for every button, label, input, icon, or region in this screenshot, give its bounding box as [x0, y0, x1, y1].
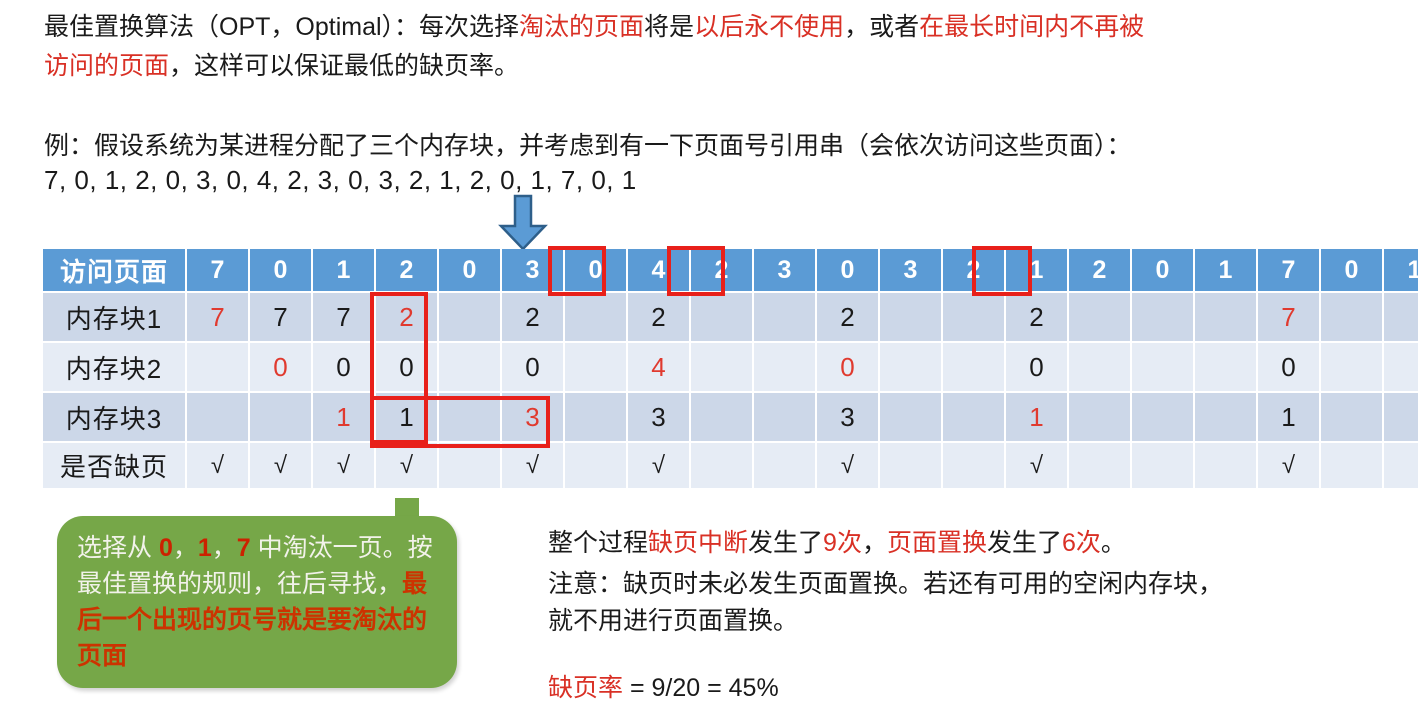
- table-row-block1: 内存块1 777222227: [43, 292, 1418, 342]
- access-page-cell-2: 1: [312, 249, 375, 292]
- fault-cell-3: √: [375, 442, 438, 489]
- summary-line-3: 就不用进行页面置换。: [548, 603, 798, 640]
- summary-c: ，: [862, 529, 887, 557]
- fault-cell-10: √: [816, 442, 879, 489]
- block3-cell-15: [1131, 392, 1194, 442]
- block1-cell-10: 2: [816, 292, 879, 342]
- block2-cell-2: 0: [312, 342, 375, 392]
- access-page-cell-7: 4: [627, 249, 690, 292]
- block1-cell-4: [438, 292, 501, 342]
- block2-cell-7: 4: [627, 342, 690, 392]
- block3-cell-17: 1: [1257, 392, 1320, 442]
- block2-cell-3: 0: [375, 342, 438, 392]
- block1-cell-7: 2: [627, 292, 690, 342]
- intro-text-b: 将是: [644, 13, 694, 41]
- summary-red-count-9: 9次: [823, 529, 862, 557]
- fault-cell-1: √: [249, 442, 312, 489]
- intro-red-3: 在最长时间内不再被: [919, 13, 1144, 41]
- block3-cell-3: 1: [375, 392, 438, 442]
- block1-cell-15: [1131, 292, 1194, 342]
- block1-cell-0: 7: [186, 292, 249, 342]
- block2-cell-1: 0: [249, 342, 312, 392]
- block2-cell-13: 0: [1005, 342, 1068, 392]
- callout-num-7: 7: [237, 534, 251, 562]
- fault-cell-2: √: [312, 442, 375, 489]
- block1-cell-14: [1068, 292, 1131, 342]
- block3-cell-0: [186, 392, 249, 442]
- block1-cell-18: [1320, 292, 1383, 342]
- row-label-access-page: 访问页面: [43, 249, 186, 292]
- block3-cell-8: [690, 392, 753, 442]
- block3-cell-2: 1: [312, 392, 375, 442]
- block2-cell-11: [879, 342, 942, 392]
- block1-cell-2: 7: [312, 292, 375, 342]
- access-page-cell-1: 0: [249, 249, 312, 292]
- block3-cell-9: [753, 392, 816, 442]
- fault-cell-19: [1383, 442, 1418, 489]
- fault-cell-16: [1194, 442, 1257, 489]
- callout-box: 选择从 0，1，7 中淘汰一页。按最佳置换的规则，往后寻找，最后一个出现的页号就…: [57, 516, 457, 688]
- fault-cell-9: [753, 442, 816, 489]
- summary-line-2: 注意：缺页时未必发生页面置换。若还有可用的空闲内存块，: [548, 566, 1223, 603]
- block2-cell-10: 0: [816, 342, 879, 392]
- access-page-cell-14: 2: [1068, 249, 1131, 292]
- table-row-block3: 内存块3 1133311: [43, 392, 1418, 442]
- block2-cell-12: [942, 342, 1005, 392]
- block1-cell-17: 7: [1257, 292, 1320, 342]
- access-page-cell-15: 0: [1131, 249, 1194, 292]
- access-page-cell-13: 1: [1005, 249, 1068, 292]
- block1-cell-6: [564, 292, 627, 342]
- access-page-cell-9: 3: [753, 249, 816, 292]
- summary-e: 。: [1101, 529, 1126, 557]
- down-arrow-icon: [494, 194, 552, 252]
- fault-cell-8: [690, 442, 753, 489]
- block2-cell-17: 0: [1257, 342, 1320, 392]
- block1-cell-1: 7: [249, 292, 312, 342]
- fault-cell-7: √: [627, 442, 690, 489]
- row-label-block3: 内存块3: [43, 392, 186, 442]
- access-page-cell-11: 3: [879, 249, 942, 292]
- intro-red-4: 访问的页面: [44, 52, 169, 80]
- block3-cell-10: 3: [816, 392, 879, 442]
- callout-sep-1: ，: [173, 534, 198, 562]
- block2-cell-16: [1194, 342, 1257, 392]
- summary-d: 发生了: [987, 529, 1062, 557]
- intro-line-1: 最佳置换算法（OPT，Optimal）：每次选择淘汰的页面将是以后永不使用，或者…: [44, 8, 1144, 47]
- table-row-access-page: 访问页面 70120304230321201701: [43, 249, 1418, 292]
- block3-cell-5: 3: [501, 392, 564, 442]
- summary-line-1: 整个过程缺页中断发生了9次，页面置换发生了6次。: [548, 525, 1126, 562]
- callout-num-1: 1: [198, 534, 212, 562]
- fault-cell-15: [1131, 442, 1194, 489]
- block1-cell-8: [690, 292, 753, 342]
- access-page-cell-0: 7: [186, 249, 249, 292]
- block1-cell-11: [879, 292, 942, 342]
- block3-cell-4: [438, 392, 501, 442]
- block3-cell-19: [1383, 392, 1418, 442]
- fault-rate-label: 缺页率: [548, 674, 623, 702]
- access-page-cell-5: 3: [501, 249, 564, 292]
- block3-cell-11: [879, 392, 942, 442]
- block1-cell-3: 2: [375, 292, 438, 342]
- row-label-block2: 内存块2: [43, 342, 186, 392]
- block2-cell-5: 0: [501, 342, 564, 392]
- fault-cell-12: [942, 442, 1005, 489]
- table-row-fault: 是否缺页 √√√√√√√√√: [43, 442, 1418, 489]
- block1-cell-12: [942, 292, 1005, 342]
- block2-cell-8: [690, 342, 753, 392]
- block2-cell-15: [1131, 342, 1194, 392]
- fault-cell-6: [564, 442, 627, 489]
- fault-cell-13: √: [1005, 442, 1068, 489]
- block2-cell-4: [438, 342, 501, 392]
- access-page-cell-4: 0: [438, 249, 501, 292]
- block2-cell-18: [1320, 342, 1383, 392]
- fault-cell-11: [879, 442, 942, 489]
- block3-cell-12: [942, 392, 1005, 442]
- summary-red-page-replace: 页面置换: [887, 529, 987, 557]
- block2-cell-0: [186, 342, 249, 392]
- block2-cell-9: [753, 342, 816, 392]
- fault-cell-17: √: [1257, 442, 1320, 489]
- summary-red-count-6: 6次: [1062, 529, 1101, 557]
- access-page-cell-19: 1: [1383, 249, 1418, 292]
- block3-cell-7: 3: [627, 392, 690, 442]
- block1-cell-19: [1383, 292, 1418, 342]
- block3-cell-6: [564, 392, 627, 442]
- callout-seg-1: 选择从: [77, 534, 159, 562]
- fault-rate-value: = 9/20 = 45%: [623, 674, 779, 702]
- row-label-block1: 内存块1: [43, 292, 186, 342]
- block1-cell-9: [753, 292, 816, 342]
- block2-cell-19: [1383, 342, 1418, 392]
- summary-a: 整个过程: [548, 529, 648, 557]
- access-page-cell-10: 0: [816, 249, 879, 292]
- block3-cell-13: 1: [1005, 392, 1068, 442]
- row-label-fault: 是否缺页: [43, 442, 186, 489]
- callout-sep-2: ，: [212, 534, 237, 562]
- access-page-cell-17: 7: [1257, 249, 1320, 292]
- intro-line-2: 访问的页面，这样可以保证最低的缺页率。: [44, 47, 519, 86]
- block1-cell-5: 2: [501, 292, 564, 342]
- block1-cell-16: [1194, 292, 1257, 342]
- access-page-cell-3: 2: [375, 249, 438, 292]
- fault-cell-0: √: [186, 442, 249, 489]
- fault-cell-5: √: [501, 442, 564, 489]
- fault-cell-14: [1068, 442, 1131, 489]
- opt-replacement-table: 访问页面 70120304230321201701 内存块1 777222227…: [43, 249, 1418, 490]
- access-page-cell-12: 2: [942, 249, 1005, 292]
- fault-rate-line: 缺页率 = 9/20 = 45%: [548, 670, 779, 707]
- access-page-cell-8: 2: [690, 249, 753, 292]
- block3-cell-1: [249, 392, 312, 442]
- intro-text-d: ，这样可以保证最低的缺页率。: [169, 52, 519, 80]
- callout-num-0: 0: [159, 534, 173, 562]
- table-row-block2: 内存块2 00004000: [43, 342, 1418, 392]
- fault-cell-18: [1320, 442, 1383, 489]
- access-page-cell-18: 0: [1320, 249, 1383, 292]
- block3-cell-18: [1320, 392, 1383, 442]
- access-page-cell-6: 0: [564, 249, 627, 292]
- block3-cell-14: [1068, 392, 1131, 442]
- block2-cell-14: [1068, 342, 1131, 392]
- intro-red-2: 以后永不使用: [694, 13, 844, 41]
- fault-cell-4: [438, 442, 501, 489]
- block1-cell-13: 2: [1005, 292, 1068, 342]
- intro-text-c: ，或者: [844, 13, 919, 41]
- intro-text-a: 最佳置换算法（OPT，Optimal）：每次选择: [44, 13, 519, 41]
- block2-cell-6: [564, 342, 627, 392]
- summary-red-fault-interrupt: 缺页中断: [648, 529, 748, 557]
- callout-text: 选择从 0，1，7 中淘汰一页。按最佳置换的规则，往后寻找，最后一个出现的页号就…: [77, 530, 447, 674]
- block3-cell-16: [1194, 392, 1257, 442]
- access-page-cell-16: 1: [1194, 249, 1257, 292]
- intro-red-1: 淘汰的页面: [519, 13, 644, 41]
- summary-b: 发生了: [748, 529, 823, 557]
